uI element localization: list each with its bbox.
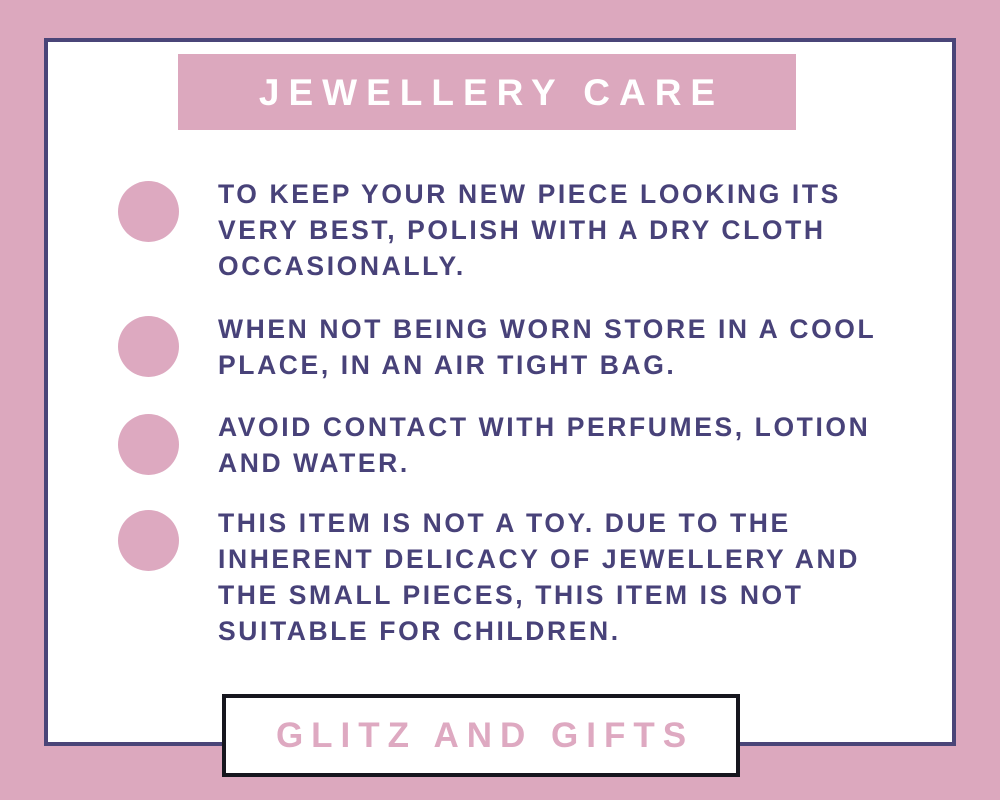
bullet-dot-icon <box>118 414 179 475</box>
list-item-body: TO KEEP YOUR NEW PIECE LOOKING ITS VERY … <box>179 172 918 284</box>
page-title: JEWELLERY CARE <box>250 74 724 111</box>
list-item-text: WHEN NOT BEING WORN STORE IN A COOL PLAC… <box>218 311 918 383</box>
title-banner: JEWELLERY CARE <box>178 54 796 130</box>
jewellery-care-card: JEWELLERY CARE TO KEEP YOUR NEW PIECE LO… <box>0 0 1000 800</box>
list-item: WHEN NOT BEING WORN STORE IN A COOL PLAC… <box>118 307 918 383</box>
brand-badge: GLITZ AND GIFTS <box>222 694 740 777</box>
bullet-dot-icon <box>118 510 179 571</box>
bullet-dot-icon <box>118 316 179 377</box>
list-item-body: THIS ITEM IS NOT A TOY. DUE TO THE INHER… <box>179 501 918 649</box>
list-item: THIS ITEM IS NOT A TOY. DUE TO THE INHER… <box>118 501 918 649</box>
care-instruction-list: TO KEEP YOUR NEW PIECE LOOKING ITS VERY … <box>118 172 918 649</box>
list-item-text: AVOID CONTACT WITH PERFUMES, LOTION AND … <box>218 409 918 481</box>
list-item-body: WHEN NOT BEING WORN STORE IN A COOL PLAC… <box>179 307 918 383</box>
list-item-text: TO KEEP YOUR NEW PIECE LOOKING ITS VERY … <box>218 176 918 284</box>
bullet-dot-icon <box>118 181 179 242</box>
brand-name: GLITZ AND GIFTS <box>268 718 694 753</box>
list-item: AVOID CONTACT WITH PERFUMES, LOTION AND … <box>118 405 918 481</box>
list-item-body: AVOID CONTACT WITH PERFUMES, LOTION AND … <box>179 405 918 481</box>
list-item: TO KEEP YOUR NEW PIECE LOOKING ITS VERY … <box>118 172 918 284</box>
list-item-text: THIS ITEM IS NOT A TOY. DUE TO THE INHER… <box>218 505 918 649</box>
